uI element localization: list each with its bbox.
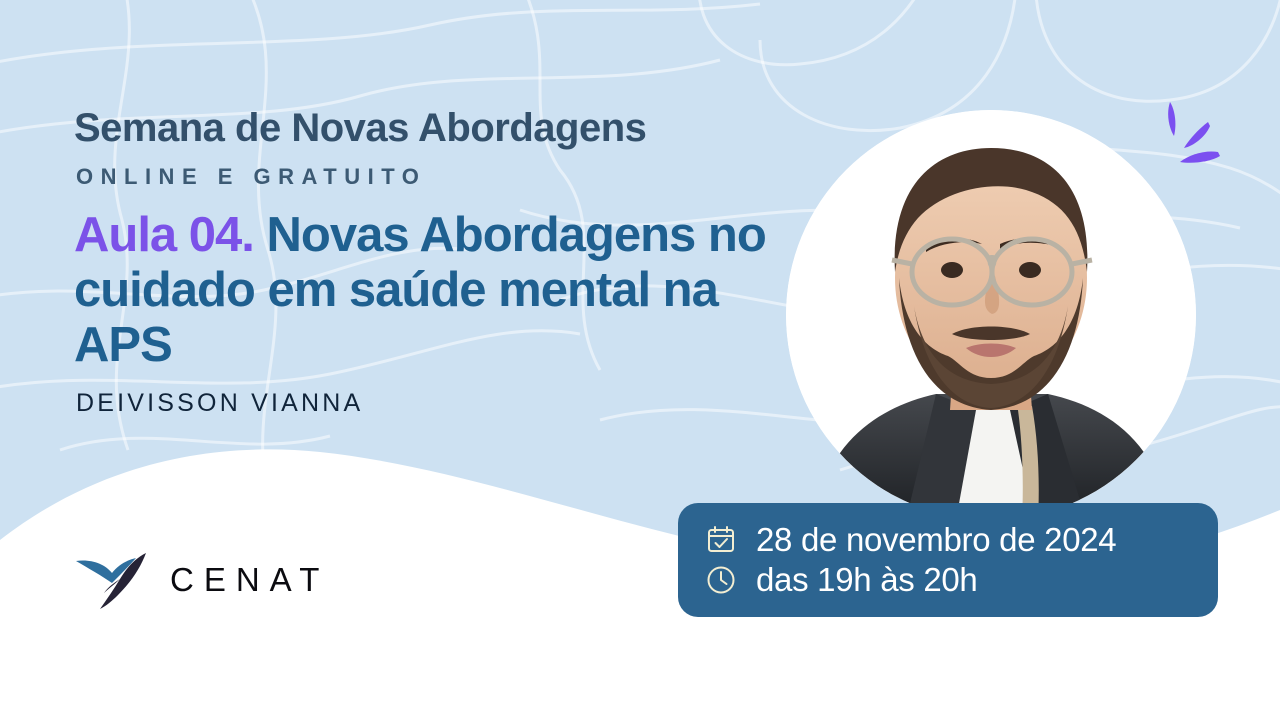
- lesson-heading: Aula 04. Novas Abordagens no cuidado em …: [74, 208, 804, 373]
- event-date-text: 28 de novembro de 2024: [756, 521, 1116, 559]
- event-title: Semana de Novas Abordagens: [74, 106, 834, 150]
- calendar-check-icon: [704, 523, 738, 557]
- speaker-portrait: [786, 110, 1196, 520]
- lesson-number: Aula 04.: [74, 208, 254, 262]
- event-datetime-badge: 28 de novembro de 2024 das 19h às 20h: [678, 503, 1218, 617]
- webinar-poster: Semana de Novas Abordagens ONLINE E GRAT…: [0, 0, 1280, 720]
- speaker-portrait-illustration: [786, 110, 1196, 520]
- cenat-logo: CENAT: [74, 549, 329, 611]
- event-time-text: das 19h às 20h: [756, 561, 977, 599]
- clock-icon: [704, 563, 738, 597]
- poster-text-column: Semana de Novas Abordagens ONLINE E GRAT…: [74, 106, 834, 418]
- event-date-row: 28 de novembro de 2024: [704, 521, 1218, 559]
- speaker-name: DEIVISSON VIANNA: [76, 389, 834, 418]
- event-subtitle: ONLINE E GRATUITO: [76, 164, 834, 190]
- cenat-bird-logo-icon: [74, 549, 152, 611]
- cenat-wordmark: CENAT: [170, 561, 329, 599]
- event-time-row: das 19h às 20h: [704, 561, 1218, 599]
